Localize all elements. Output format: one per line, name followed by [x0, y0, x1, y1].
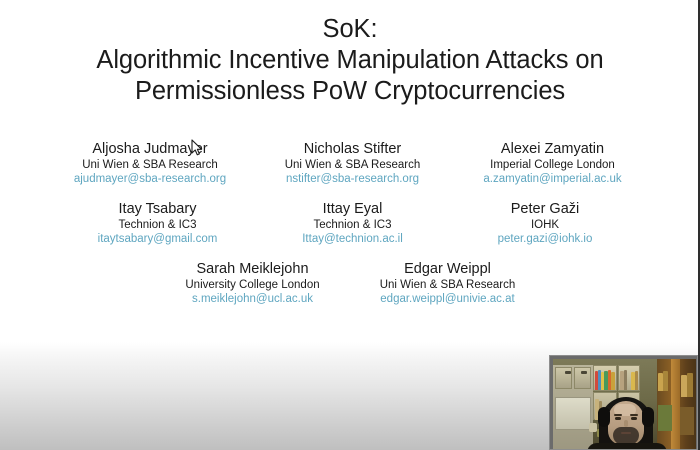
author-name: Nicholas Stifter — [260, 140, 445, 158]
mouth — [621, 432, 631, 434]
author-email[interactable]: a.zamyatin@imperial.ac.uk — [465, 172, 640, 187]
author-name: Alexei Zamyatin — [465, 140, 640, 158]
nose — [624, 420, 628, 427]
desk-lamp — [589, 423, 597, 432]
eyebrow — [630, 414, 638, 416]
author-affiliation: Technion & IC3 — [70, 218, 245, 232]
webcam-video — [553, 359, 696, 450]
author-row: Itay Tsabary Technion & IC3 itaytsabary@… — [0, 200, 700, 247]
author-name: Peter Gaži — [460, 200, 630, 218]
author-name: Edgar Weippl — [360, 260, 535, 278]
title-line-3: Permissionless PoW Cryptocurrencies — [0, 76, 700, 107]
headphone-earcup — [598, 407, 610, 427]
author-row: Sarah Meiklejohn University College Lond… — [0, 260, 700, 307]
author-list: Aljosha Judmayer Uni Wien & SBA Research… — [0, 140, 700, 320]
author-email[interactable]: nstifter@sba-research.org — [260, 172, 445, 187]
author-name: Ittay Eyal — [265, 200, 440, 218]
author-name: Itay Tsabary — [70, 200, 245, 218]
book — [611, 372, 615, 390]
author-name: Sarah Meiklejohn — [165, 260, 340, 278]
book — [624, 370, 627, 390]
author-affiliation: Uni Wien & SBA Research — [360, 278, 535, 292]
author-entry: Peter Gaži IOHK peter.gazi@iohk.io — [450, 200, 640, 247]
author-name: Aljosha Judmayer — [60, 140, 240, 158]
author-entry: Aljosha Judmayer Uni Wien & SBA Research… — [50, 140, 250, 187]
shelf-object — [680, 407, 694, 435]
eye — [631, 417, 637, 420]
author-email[interactable]: s.meiklejohn@ucl.ac.uk — [165, 292, 340, 307]
book — [687, 373, 693, 397]
eye — [615, 417, 621, 420]
wood-post — [671, 359, 680, 450]
author-affiliation: Uni Wien & SBA Research — [60, 158, 240, 172]
author-email[interactable]: itaytsabary@gmail.com — [70, 232, 245, 247]
webcam-overlay[interactable] — [549, 355, 698, 450]
author-affiliation: Uni Wien & SBA Research — [260, 158, 445, 172]
shelf-handle — [565, 371, 571, 374]
author-entry: Sarah Meiklejohn University College Lond… — [155, 260, 350, 307]
author-email[interactable]: ajudmayer@sba-research.org — [60, 172, 240, 187]
presenter-shoulders — [587, 443, 667, 450]
author-entry: Itay Tsabary Technion & IC3 itaytsabary@… — [60, 200, 255, 247]
title-line-2: Algorithmic Incentive Manipulation Attac… — [0, 45, 700, 76]
headphone-earcup — [642, 407, 654, 427]
author-entry: Ittay Eyal Technion & IC3 Ittay@technion… — [255, 200, 450, 247]
author-email[interactable]: Ittay@technion.ac.il — [265, 232, 440, 247]
author-email[interactable]: peter.gazi@iohk.io — [460, 232, 630, 247]
author-affiliation: Imperial College London — [465, 158, 640, 172]
shelf-object — [658, 405, 672, 431]
eyebrow — [614, 414, 622, 416]
author-entry: Nicholas Stifter Uni Wien & SBA Research… — [250, 140, 455, 187]
author-row: Aljosha Judmayer Uni Wien & SBA Research… — [0, 140, 700, 187]
author-affiliation: IOHK — [460, 218, 630, 232]
author-affiliation: University College London — [165, 278, 340, 292]
shelf-handle — [581, 371, 587, 374]
author-entry: Alexei Zamyatin Imperial College London … — [455, 140, 650, 187]
author-entry: Edgar Weippl Uni Wien & SBA Research edg… — [350, 260, 545, 307]
title-line-1: SoK: — [0, 14, 700, 45]
presentation-screen: SoK: Algorithmic Incentive Manipulation … — [0, 0, 700, 450]
book — [663, 371, 668, 391]
slide-title: SoK: Algorithmic Incentive Manipulation … — [0, 14, 700, 107]
mouse-pointer-icon — [191, 139, 203, 157]
book — [635, 371, 638, 390]
author-affiliation: Technion & IC3 — [265, 218, 440, 232]
author-email[interactable]: edgar.weippl@univie.ac.at — [360, 292, 535, 307]
wall-panel — [555, 397, 591, 430]
